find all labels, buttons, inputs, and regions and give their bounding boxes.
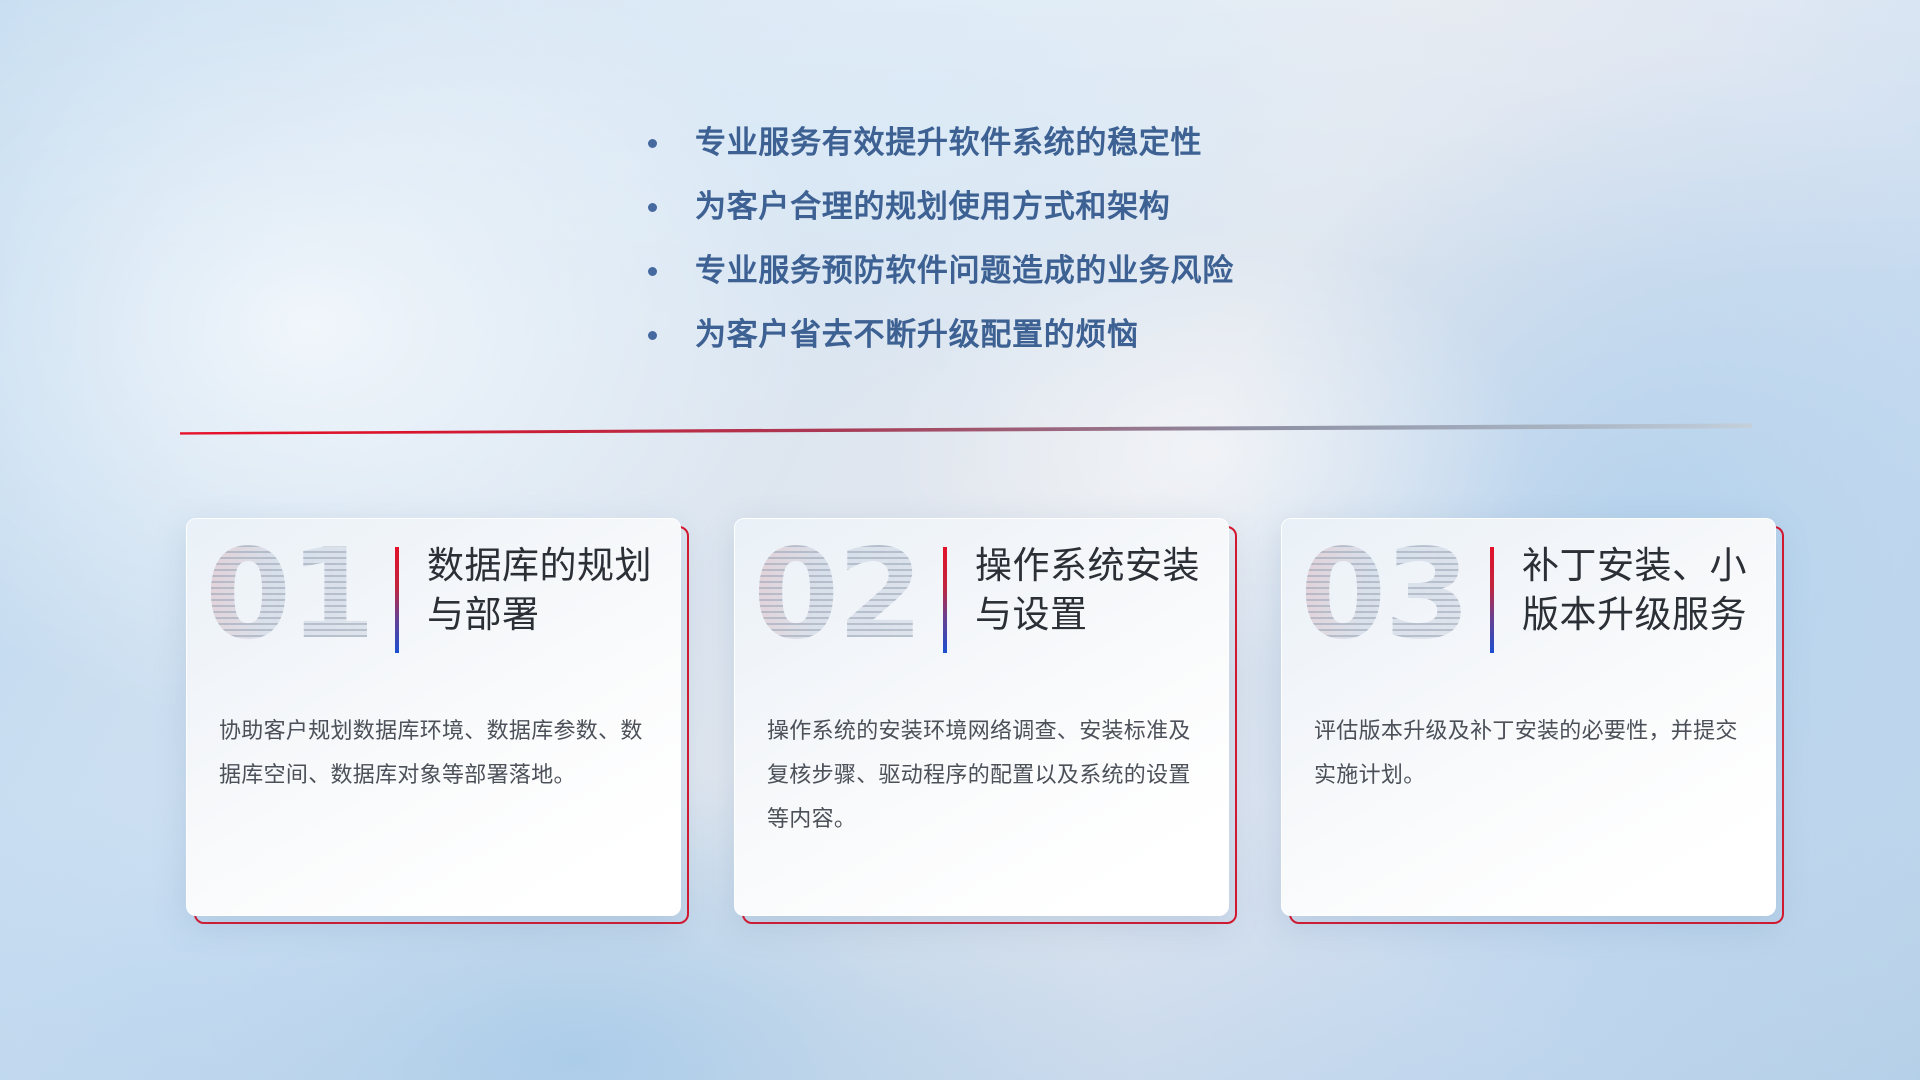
card-number-watermark: 02 <box>753 533 922 657</box>
card-surface: 02 操作系统安装与设置 操作系统的安装环境网络调查、安装标准及复核步骤、驱动程… <box>734 518 1229 916</box>
card-header: 02 操作系统安装与设置 <box>735 519 1228 687</box>
card-body-text: 操作系统的安装环境网络调查、安装标准及复核步骤、驱动程序的配置以及系统的设置等内… <box>767 709 1199 841</box>
feature-card[interactable]: 01 数据库的规划与部署 协助客户规划数据库环境、数据库参数、数据库空间、数据库… <box>186 518 681 916</box>
feature-card[interactable]: 02 操作系统安装与设置 操作系统的安装环境网络调查、安装标准及复核步骤、驱动程… <box>734 518 1229 916</box>
card-surface: 03 补丁安装、小版本升级服务 评估版本升级及补丁安装的必要性，并提交实施计划。 <box>1281 518 1776 916</box>
card-number-watermark: 01 <box>205 533 374 657</box>
card-body-text: 协助客户规划数据库环境、数据库参数、数据库空间、数据库对象等部署落地。 <box>219 709 651 797</box>
card-accent-bar <box>1490 547 1494 653</box>
card-title: 操作系统安装与设置 <box>975 541 1207 639</box>
feature-card[interactable]: 03 补丁安装、小版本升级服务 评估版本升级及补丁安装的必要性，并提交实施计划。 <box>1281 518 1776 916</box>
card-surface: 01 数据库的规划与部署 协助客户规划数据库环境、数据库参数、数据库空间、数据库… <box>186 518 681 916</box>
card-number-watermark: 03 <box>1300 533 1469 657</box>
card-grid: 01 数据库的规划与部署 协助客户规划数据库环境、数据库参数、数据库空间、数据库… <box>0 0 1920 1080</box>
card-accent-bar <box>395 547 399 653</box>
card-accent-bar <box>943 547 947 653</box>
card-header: 01 数据库的规划与部署 <box>187 519 680 687</box>
card-title: 补丁安装、小版本升级服务 <box>1522 541 1754 639</box>
card-body-text: 评估版本升级及补丁安装的必要性，并提交实施计划。 <box>1314 709 1746 797</box>
card-title: 数据库的规划与部署 <box>427 541 659 639</box>
card-header: 03 补丁安装、小版本升级服务 <box>1282 519 1775 687</box>
